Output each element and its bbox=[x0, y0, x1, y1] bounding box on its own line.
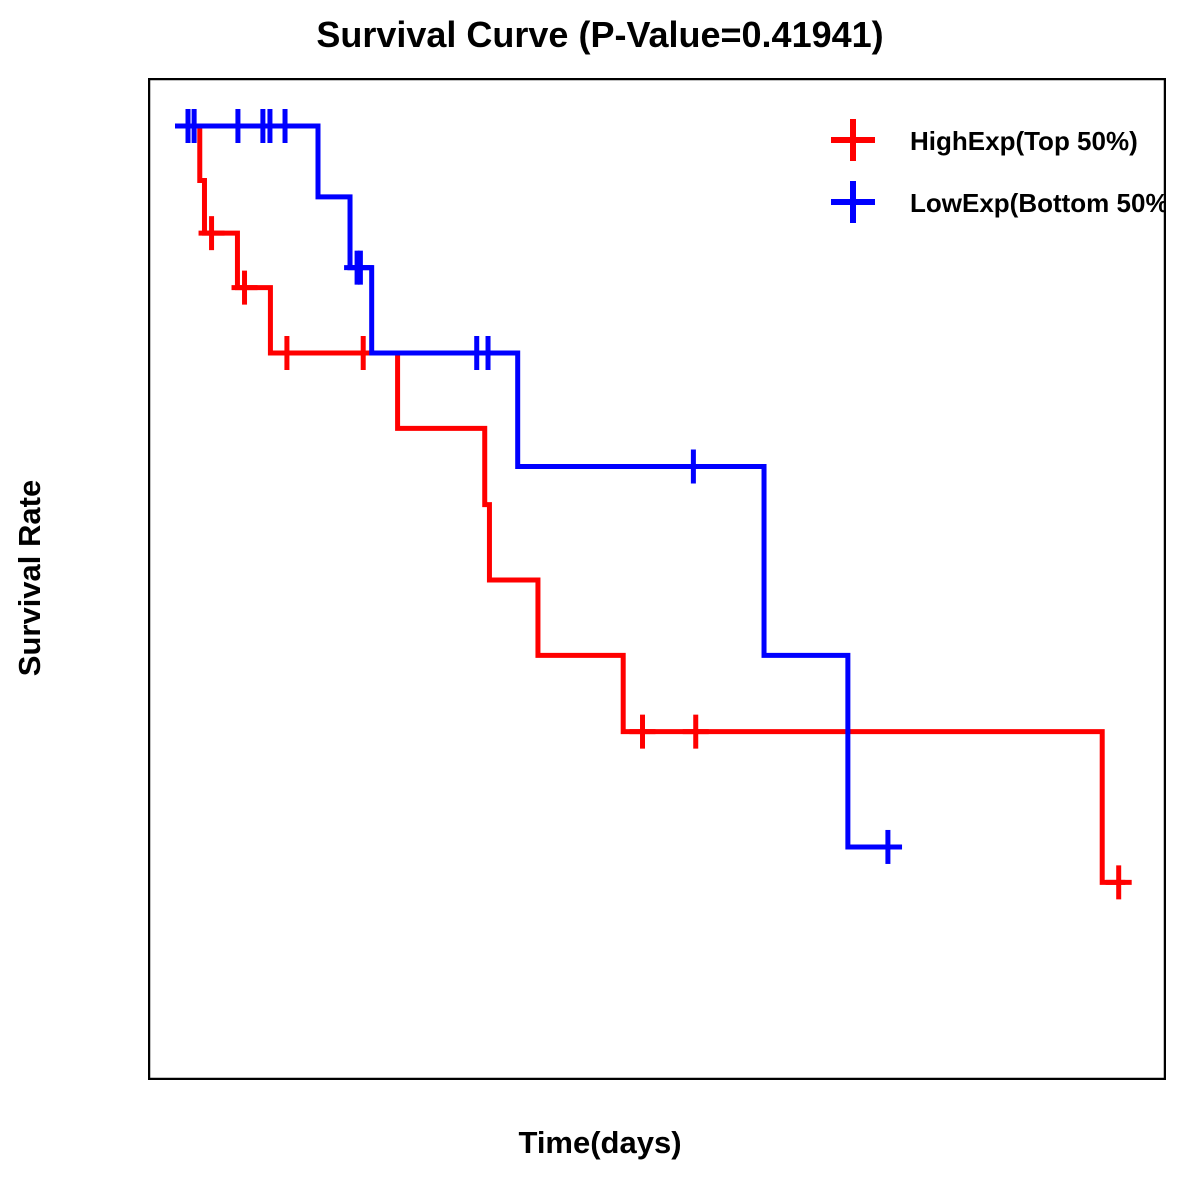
legend-item[interactable]: LowExp(Bottom 50%) bbox=[831, 181, 1166, 223]
censor-mark bbox=[630, 715, 656, 749]
legend: HighExp(Top 50%)LowExp(Bottom 50%) bbox=[831, 119, 1166, 223]
censor-mark bbox=[272, 109, 298, 143]
survival-plot-figure: Survival Curve (P-Value=0.41941) 0.000.2… bbox=[0, 0, 1200, 1200]
x-axis-label: Time(days) bbox=[0, 1125, 1200, 1161]
censor-mark bbox=[1106, 865, 1132, 899]
y-axis-label: Survival Rate bbox=[12, 408, 48, 748]
chart-title: Survival Curve (P-Value=0.41941) bbox=[0, 14, 1200, 56]
censor-mark bbox=[680, 450, 706, 484]
series-highexp bbox=[175, 109, 1132, 899]
survival-step-line bbox=[188, 126, 902, 847]
censor-mark bbox=[225, 109, 251, 143]
legend-label: LowExp(Bottom 50%) bbox=[910, 188, 1166, 218]
censor-mark bbox=[875, 830, 901, 864]
legend-label: HighExp(Top 50%) bbox=[910, 126, 1138, 156]
legend-item[interactable]: HighExp(Top 50%) bbox=[831, 119, 1138, 161]
survival-curve-svg: 0.000.250.500.751.000500100015002000High… bbox=[148, 78, 1166, 1080]
plot-area: 0.000.250.500.751.000500100015002000High… bbox=[148, 78, 1166, 1080]
censor-mark bbox=[274, 336, 300, 370]
survival-step-line bbox=[188, 126, 1125, 882]
plot-frame bbox=[149, 79, 1165, 1079]
censor-mark bbox=[181, 109, 207, 143]
series-lowexp bbox=[175, 109, 902, 864]
censor-mark bbox=[683, 715, 709, 749]
